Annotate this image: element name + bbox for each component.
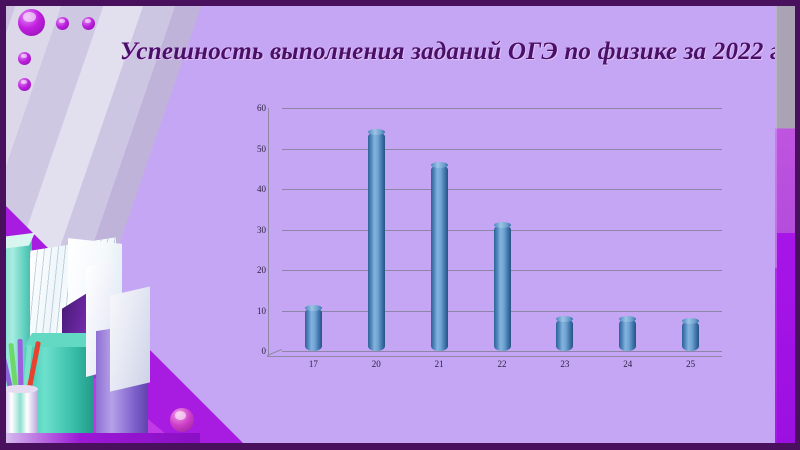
bar-slot: 21	[408, 108, 471, 351]
y-axis-tick-label: 40	[226, 184, 266, 194]
pen-cup-rim	[4, 385, 38, 393]
bar-top-ellipse	[305, 305, 322, 311]
x-axis-tick-label: 25	[686, 359, 695, 369]
bar-top-ellipse	[682, 318, 699, 324]
y-axis-tick-label: 0	[226, 346, 266, 356]
pen-cup-icon	[4, 389, 38, 437]
bar-top-ellipse	[431, 162, 448, 168]
bar[interactable]	[556, 319, 573, 351]
bar-slot: 24	[596, 108, 659, 351]
right-decorative-bar	[777, 6, 795, 443]
bar-slot: 20	[345, 108, 408, 351]
floor-strip	[0, 433, 200, 443]
bar-slot: 25	[659, 108, 722, 351]
x-axis-line	[267, 356, 722, 357]
bar-top-ellipse	[494, 222, 511, 228]
frame-right	[795, 0, 800, 450]
folder-icon	[110, 286, 150, 391]
x-axis-tick-label: 21	[435, 359, 444, 369]
y-axis-line	[268, 108, 269, 356]
decorative-circle-large-icon	[18, 9, 45, 36]
x-axis-tick-label: 17	[309, 359, 318, 369]
plot-area: 0102030405060 17202122232425	[282, 108, 722, 351]
bar[interactable]	[431, 165, 448, 351]
decorative-circle-bottom-icon	[170, 408, 194, 432]
bar-slot: 22	[471, 108, 534, 351]
bar[interactable]	[305, 308, 322, 351]
bar-series: 17202122232425	[282, 108, 722, 351]
decorative-circle-small-icon	[18, 52, 31, 65]
bar-slot: 23	[533, 108, 596, 351]
x-axis-tick-label: 23	[560, 359, 569, 369]
decorative-circle-small-icon	[18, 78, 31, 91]
y-axis-tick-label: 30	[226, 225, 266, 235]
bar[interactable]	[619, 319, 636, 351]
bar-chart: 0102030405060 17202122232425	[236, 100, 736, 368]
bar-top-ellipse	[619, 316, 636, 322]
x-axis-tick-label: 24	[623, 359, 632, 369]
bar[interactable]	[368, 132, 385, 351]
bar-top-ellipse	[368, 129, 385, 135]
y-axis-tick-label: 20	[226, 265, 266, 275]
bar-top-ellipse	[556, 316, 573, 322]
decorative-circle-small-icon	[56, 17, 69, 30]
y-axis-tick-label: 60	[226, 103, 266, 113]
axis-corner	[267, 349, 282, 356]
bar[interactable]	[494, 225, 511, 351]
slide-title: Успешность выполнения заданий ОГЭ по физ…	[120, 38, 780, 66]
y-axis-tick-label: 10	[226, 306, 266, 316]
y-axis-tick-label: 50	[226, 144, 266, 154]
decorative-circle-small-icon	[82, 17, 95, 30]
x-axis-tick-label: 22	[498, 359, 507, 369]
bar-slot: 17	[282, 108, 345, 351]
slide-canvas: Успешность выполнения заданий ОГЭ по физ…	[0, 0, 800, 450]
bar[interactable]	[682, 321, 699, 351]
gridline	[282, 351, 722, 352]
x-axis-tick-label: 20	[372, 359, 381, 369]
